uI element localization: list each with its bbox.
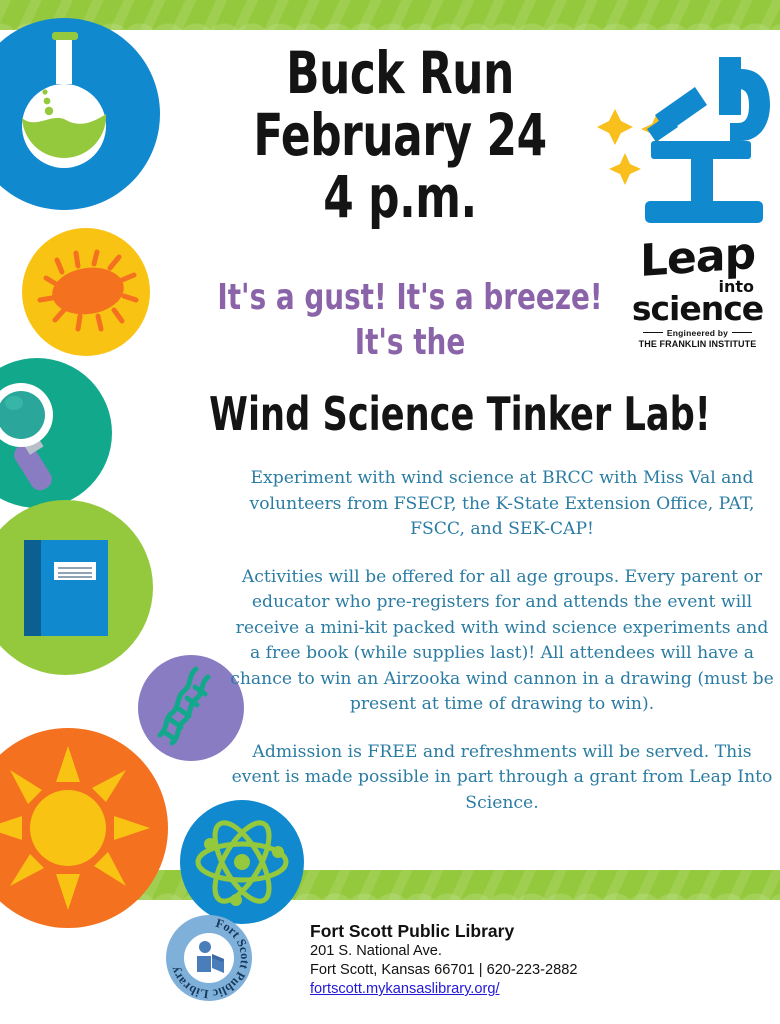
body-paragraph-2: Activities will be offered for all age g… [228,565,776,718]
event-title: Wind Science Tinker Lab! [197,388,724,440]
headline-line-2: February 24 [232,104,568,166]
book-icon [0,500,153,675]
book-circle [0,500,153,675]
leap-logo-engineered-by: Engineered by [625,328,770,338]
body-paragraph-1: Experiment with wind science at BRCC wit… [228,466,776,543]
library-website-link[interactable]: fortscott.mykansaslibrary.org/ [310,980,577,999]
headline-line-3: 4 p.m. [232,166,568,228]
headline-block: Buck Run February 24 4 p.m. [200,42,600,228]
magnifier-circle [0,358,112,508]
library-seal-icon: Fort Scott Public Library [165,914,253,1002]
leap-logo-science: science [625,293,770,325]
body-copy: Experiment with wind science at BRCC wit… [228,466,776,816]
atom-circle [180,800,304,924]
microbe-icon [22,228,150,356]
flask-icon [0,18,160,210]
library-city-phone: Fort Scott, Kansas 66701 | 620-223-2882 [310,961,577,980]
microbe-circle [22,228,150,356]
tagline-line-2: It's the [212,320,608,365]
microscope-icon [637,55,770,245]
flask-circle [0,18,160,210]
atom-icon [180,800,304,924]
leap-logo-institute: THE FRANKLIN INSTITUTE [625,339,770,349]
headline-line-1: Buck Run [232,42,568,104]
sun-circle [0,728,168,928]
footer-text: Fort Scott Public Library 201 S. Nationa… [310,920,577,999]
leap-into-science-logo: Leap into science Engineered by THE FRAN… [625,235,770,353]
footer-block: Fort Scott Public Library Fort Scott Pub… [160,908,680,1018]
body-paragraph-3: Admission is FREE and refreshments will … [228,740,776,817]
leap-logo-into: into [718,277,754,296]
tagline-line-1: It's a gust! It's a breeze! [212,275,608,320]
engineered-by-text: Engineered by [667,328,728,338]
sun-icon [0,728,168,928]
magnifying-glass-icon [0,358,112,508]
tagline-block: It's a gust! It's a breeze! It's the [180,275,640,365]
poster-canvas: Leap into science Engineered by THE FRAN… [0,0,780,1024]
library-name: Fort Scott Public Library [310,920,577,942]
library-address: 201 S. National Ave. [310,942,577,961]
